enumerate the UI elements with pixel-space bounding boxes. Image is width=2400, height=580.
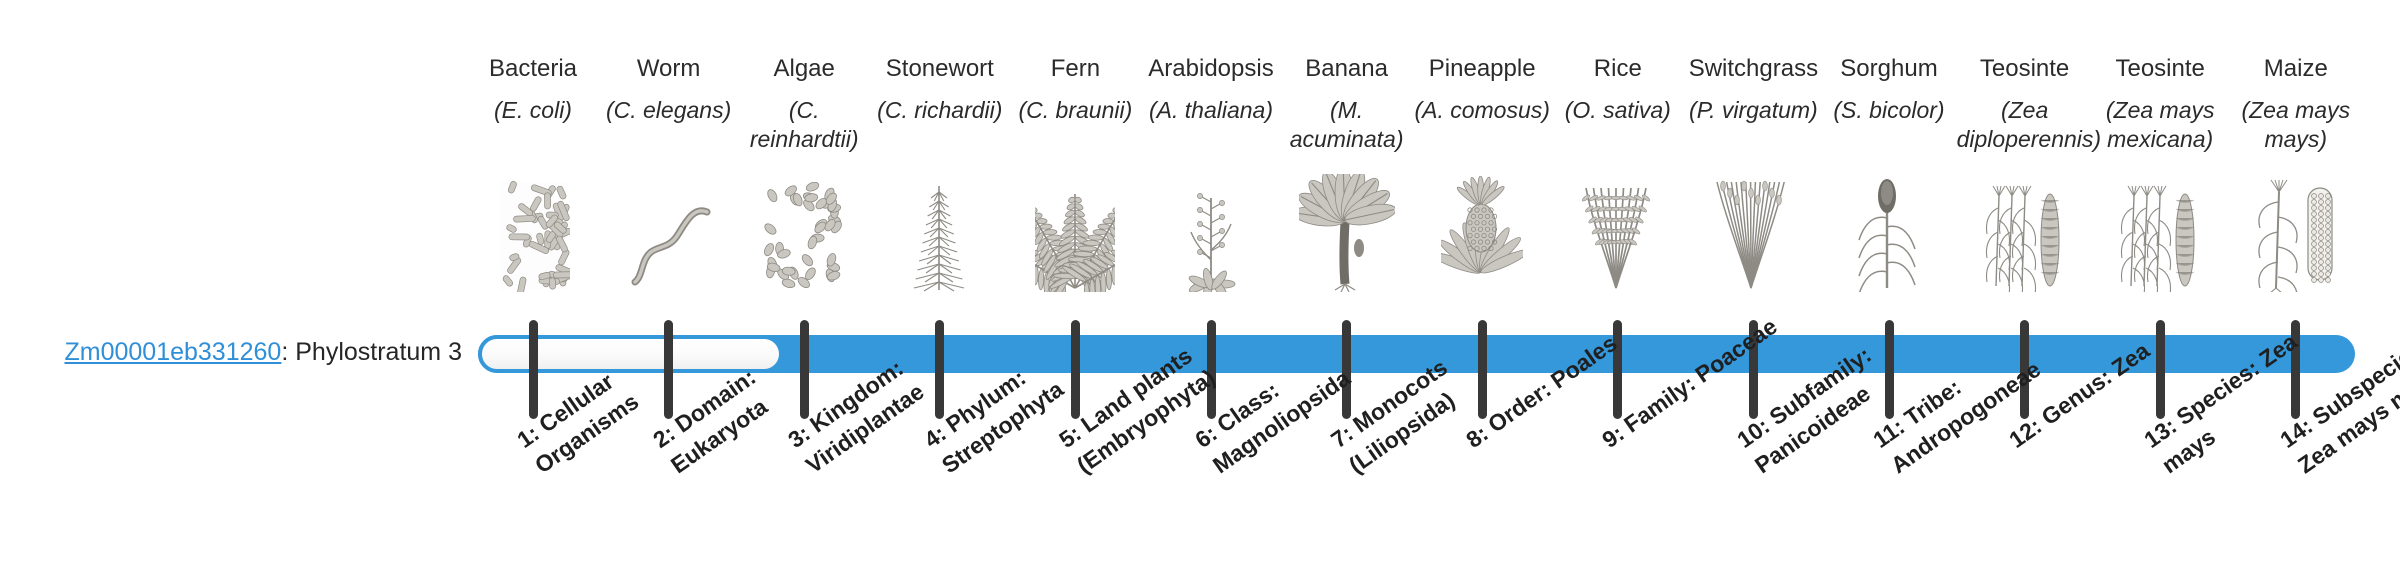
- species-common-name: Maize: [2228, 55, 2364, 83]
- species-common-name: Algae: [736, 55, 872, 83]
- species-latin-name: (O. sativa): [1550, 96, 1686, 125]
- species-latin-name: (A. comosus): [1414, 96, 1550, 125]
- species-latin-name: (S. bicolor): [1821, 96, 1957, 125]
- tick-mark-1[interactable]: [529, 320, 538, 419]
- fern-icon: [1007, 170, 1143, 292]
- teosinte-mexicana-icon: [2092, 170, 2228, 292]
- species-latin-name: (Zea mays mays): [2228, 96, 2364, 154]
- species-latin-name: (C. braunii): [1007, 96, 1143, 125]
- teosinte-diploperennis-icon: [1957, 170, 2093, 292]
- species-common-name: Sorghum: [1821, 55, 1957, 83]
- species-common-name: Rice: [1550, 55, 1686, 83]
- switchgrass-icon: [1685, 170, 1821, 292]
- species-columns: Bacteria(E. coli)Worm(C. elegans)Algae(C…: [0, 0, 2400, 580]
- algae-icon: [736, 170, 872, 292]
- species-common-name: Bacteria: [465, 55, 601, 83]
- sorghum-icon: [1821, 170, 1957, 292]
- species-latin-name: (M. acuminata): [1279, 96, 1415, 154]
- species-latin-name: (P. virgatum): [1685, 96, 1821, 125]
- species-common-name: Worm: [601, 55, 737, 83]
- species-common-name: Switchgrass: [1685, 55, 1821, 83]
- species-latin-name: (C. elegans): [601, 96, 737, 125]
- banana-icon: [1279, 170, 1415, 292]
- arabidopsis-icon: [1143, 170, 1279, 292]
- stonewort-icon: [872, 170, 1008, 292]
- phylostratigraphy-timeline: Zm00001eb331260: Phylostratum 3 Bacteria…: [0, 0, 2400, 580]
- species-latin-name: (Zea diploperennis): [1957, 96, 2093, 154]
- species-latin-name: (C. richardii): [872, 96, 1008, 125]
- species-latin-name: (A. thaliana): [1143, 96, 1279, 125]
- species-common-name: Teosinte: [2092, 55, 2228, 83]
- pineapple-icon: [1414, 170, 1550, 292]
- maize-icon: [2228, 170, 2364, 292]
- species-latin-name: (E. coli): [465, 96, 601, 125]
- species-latin-name: (C. reinhardtii): [736, 96, 872, 154]
- bacteria-icon: [465, 170, 601, 292]
- species-latin-name: (Zea mays mexicana): [2092, 96, 2228, 154]
- species-common-name: Banana: [1279, 55, 1415, 83]
- species-common-name: Stonewort: [872, 55, 1008, 83]
- rice-icon: [1550, 170, 1686, 292]
- species-common-name: Pineapple: [1414, 55, 1550, 83]
- species-common-name: Teosinte: [1957, 55, 2093, 83]
- species-common-name: Arabidopsis: [1143, 55, 1279, 83]
- worm-icon: [601, 170, 737, 292]
- species-common-name: Fern: [1007, 55, 1143, 83]
